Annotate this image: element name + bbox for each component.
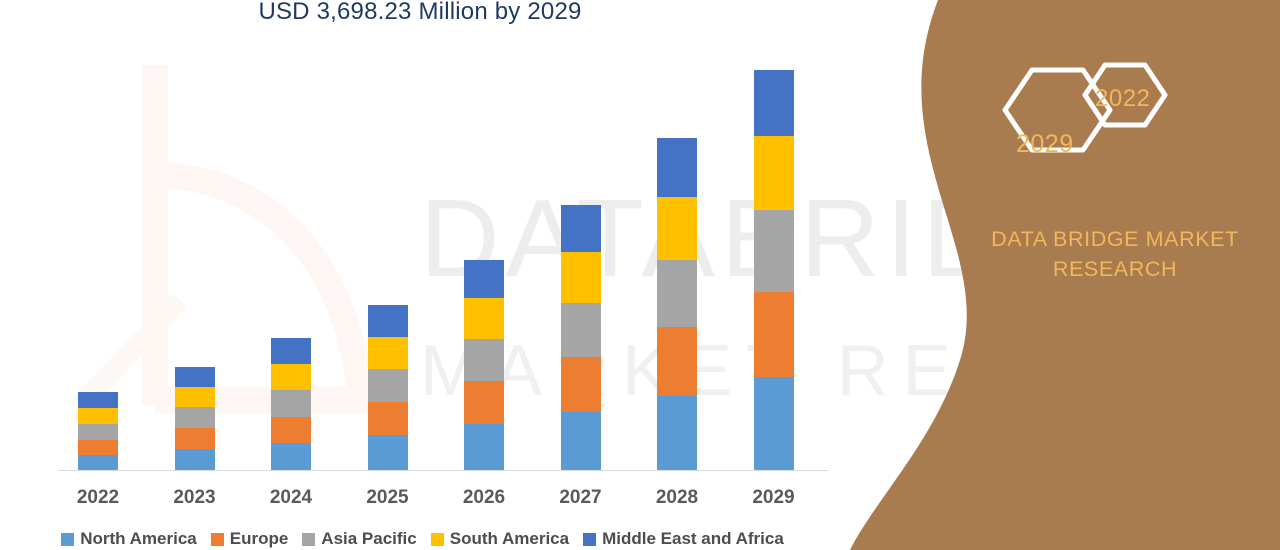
bar-segment-north-america xyxy=(78,455,118,470)
bar-segment-asia-pacific xyxy=(78,424,118,440)
bar-segment-europe xyxy=(271,417,311,443)
hexagon-label-2029: 2029 xyxy=(1016,130,1074,159)
legend-label: Middle East and Africa xyxy=(602,529,784,549)
bar-segment-south-america xyxy=(561,252,601,303)
legend-item-asia-pacific[interactable]: Asia Pacific xyxy=(302,529,416,549)
x-tick-2026: 2026 xyxy=(439,487,529,509)
legend-label: Europe xyxy=(230,529,289,549)
bar-segment-north-america xyxy=(368,435,408,470)
bar-segment-middle-east-and-africa xyxy=(271,338,311,364)
bar-segment-south-america xyxy=(78,408,118,424)
bar-2028 xyxy=(657,138,697,470)
x-tick-2022: 2022 xyxy=(53,487,143,509)
bar-segment-south-america xyxy=(175,387,215,407)
bar-segment-south-america xyxy=(464,298,504,339)
bar-segment-north-america xyxy=(657,396,697,470)
bar-segment-europe xyxy=(175,428,215,449)
bar-2023 xyxy=(175,367,215,470)
bar-segment-middle-east-and-africa xyxy=(175,367,215,387)
x-tick-2025: 2025 xyxy=(343,487,433,509)
bar-2026 xyxy=(464,260,504,470)
x-tick-2028: 2028 xyxy=(632,487,722,509)
bar-segment-middle-east-and-africa xyxy=(78,392,118,408)
legend-item-europe[interactable]: Europe xyxy=(211,529,289,549)
bar-segment-asia-pacific xyxy=(464,339,504,381)
bar-segment-europe xyxy=(368,402,408,435)
bar-2025 xyxy=(368,305,408,470)
bar-segment-south-america xyxy=(271,364,311,390)
bar-segment-north-america xyxy=(271,443,311,470)
bar-segment-asia-pacific xyxy=(657,260,697,327)
bar-segment-europe xyxy=(754,292,794,377)
bar-segment-asia-pacific xyxy=(368,369,408,402)
legend-swatch-icon xyxy=(211,533,224,546)
x-tick-2029: 2029 xyxy=(729,487,819,509)
bar-segment-middle-east-and-africa xyxy=(754,70,794,136)
bar-segment-middle-east-and-africa xyxy=(657,138,697,197)
bar-segment-north-america xyxy=(561,412,601,470)
bar-2029 xyxy=(754,70,794,470)
bar-2027 xyxy=(561,205,601,470)
legend-item-middle-east-and-africa[interactable]: Middle East and Africa xyxy=(583,529,784,549)
brand-name: DATA BRIDGE MARKET RESEARCH xyxy=(960,224,1270,284)
bar-segment-europe xyxy=(464,381,504,424)
bar-2024 xyxy=(271,338,311,470)
legend-swatch-icon xyxy=(583,533,596,546)
x-tick-2027: 2027 xyxy=(536,487,626,509)
legend-swatch-icon xyxy=(431,533,444,546)
bar-segment-asia-pacific xyxy=(561,303,601,357)
legend-label: Asia Pacific xyxy=(321,529,416,549)
legend-swatch-icon xyxy=(61,533,74,546)
infographic-canvas: DATABRIDGE MARKET RESEARCH USD 3,698.23 … xyxy=(0,0,1280,550)
legend-label: North America xyxy=(80,529,197,549)
bar-segment-south-america xyxy=(657,197,697,260)
hexagon-label-2022: 2022 xyxy=(1095,85,1150,113)
brand-name-line1: DATA BRIDGE MARKET xyxy=(960,224,1270,254)
bar-segment-middle-east-and-africa xyxy=(561,205,601,252)
brand-name-line2: RESEARCH xyxy=(960,254,1270,284)
bar-segment-europe xyxy=(78,440,118,455)
legend-item-south-america[interactable]: South America xyxy=(431,529,569,549)
chart-plot-area: 20222023202420252026202720282029 xyxy=(0,0,860,550)
bar-segment-south-america xyxy=(368,337,408,369)
bar-segment-south-america xyxy=(754,136,794,210)
x-tick-2024: 2024 xyxy=(246,487,336,509)
bar-segment-middle-east-and-africa xyxy=(368,305,408,337)
bar-segment-north-america xyxy=(175,449,215,470)
chart-legend: North AmericaEuropeAsia PacificSouth Ame… xyxy=(0,529,845,549)
bar-segment-asia-pacific xyxy=(754,210,794,292)
legend-swatch-icon xyxy=(302,533,315,546)
bar-segment-asia-pacific xyxy=(271,390,311,417)
bar-segment-north-america xyxy=(754,377,794,470)
bar-segment-north-america xyxy=(464,424,504,470)
legend-label: South America xyxy=(450,529,569,549)
bar-2022 xyxy=(78,392,118,470)
legend-item-north-america[interactable]: North America xyxy=(61,529,197,549)
bar-segment-middle-east-and-africa xyxy=(464,260,504,298)
bar-segment-europe xyxy=(561,357,601,412)
bar-segment-europe xyxy=(657,327,697,396)
bar-segment-asia-pacific xyxy=(175,407,215,428)
x-tick-2023: 2023 xyxy=(150,487,240,509)
x-axis-line xyxy=(58,470,828,471)
